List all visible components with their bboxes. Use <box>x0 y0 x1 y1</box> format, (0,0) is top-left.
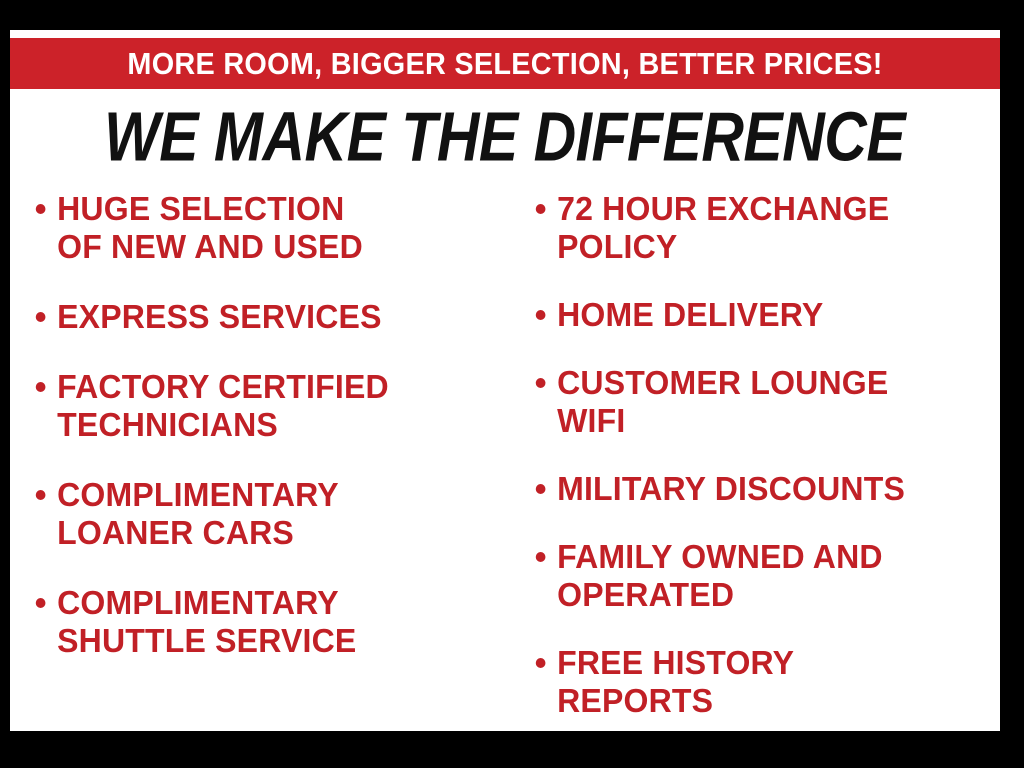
list-item: CUSTOMER LOUNGE WIFI <box>528 364 986 440</box>
bullet-dot-icon <box>536 658 546 668</box>
list-item: COMPLIMENTARY LOANER CARS <box>28 476 494 552</box>
list-item: 72 HOUR EXCHANGE POLICY <box>528 190 986 266</box>
list-item-label: 72 HOUR EXCHANGE POLICY <box>557 190 986 266</box>
list-item-label: FREE HISTORY REPORTS <box>557 644 986 720</box>
list-item-label: HUGE SELECTION OF NEW AND USED <box>57 190 494 266</box>
bullet-dot-icon <box>536 378 546 388</box>
list-item: COMPLIMENTARY SHUTTLE SERVICE <box>28 584 494 660</box>
list-item: FAMILY OWNED AND OPERATED <box>528 538 986 614</box>
list-item-label: HOME DELIVERY <box>557 296 986 334</box>
bullet-dot-icon <box>36 312 46 322</box>
list-item: HUGE SELECTION OF NEW AND USED <box>28 190 494 266</box>
headline: WE MAKE THE DIFFERENCE <box>10 102 1000 174</box>
benefits-column-left: HUGE SELECTION OF NEW AND USED EXPRESS S… <box>28 190 508 692</box>
list-item: FACTORY CERTIFIED TECHNICIANS <box>28 368 494 444</box>
poster-root: MORE ROOM, BIGGER SELECTION, BETTER PRIC… <box>0 0 1024 768</box>
bullet-dot-icon <box>36 490 46 500</box>
promo-banner: MORE ROOM, BIGGER SELECTION, BETTER PRIC… <box>10 38 1000 89</box>
bullet-dot-icon <box>36 204 46 214</box>
benefits-column-right: 72 HOUR EXCHANGE POLICY HOME DELIVERY CU… <box>528 190 1000 731</box>
bullet-dot-icon <box>536 310 546 320</box>
bullet-dot-icon <box>36 382 46 392</box>
bullet-dot-icon <box>536 552 546 562</box>
poster-card: MORE ROOM, BIGGER SELECTION, BETTER PRIC… <box>10 30 1000 731</box>
list-item: FREE HISTORY REPORTS <box>528 644 986 720</box>
promo-banner-text: MORE ROOM, BIGGER SELECTION, BETTER PRIC… <box>127 46 882 82</box>
bullet-dot-icon <box>536 204 546 214</box>
benefits-columns: HUGE SELECTION OF NEW AND USED EXPRESS S… <box>10 190 1000 731</box>
list-item: MILITARY DISCOUNTS <box>528 470 986 508</box>
list-item-label: FAMILY OWNED AND OPERATED <box>557 538 986 614</box>
list-item: HOME DELIVERY <box>528 296 986 334</box>
list-item-label: EXPRESS SERVICES <box>57 298 494 336</box>
headline-text: WE MAKE THE DIFFERENCE <box>104 103 905 172</box>
bullet-dot-icon <box>536 484 546 494</box>
list-item-label: FACTORY CERTIFIED TECHNICIANS <box>57 368 494 444</box>
list-item-label: MILITARY DISCOUNTS <box>557 470 986 508</box>
list-item-label: CUSTOMER LOUNGE WIFI <box>557 364 986 440</box>
list-item: EXPRESS SERVICES <box>28 298 494 336</box>
list-item-label: COMPLIMENTARY LOANER CARS <box>57 476 494 552</box>
bullet-dot-icon <box>36 598 46 608</box>
list-item-label: COMPLIMENTARY SHUTTLE SERVICE <box>57 584 494 660</box>
